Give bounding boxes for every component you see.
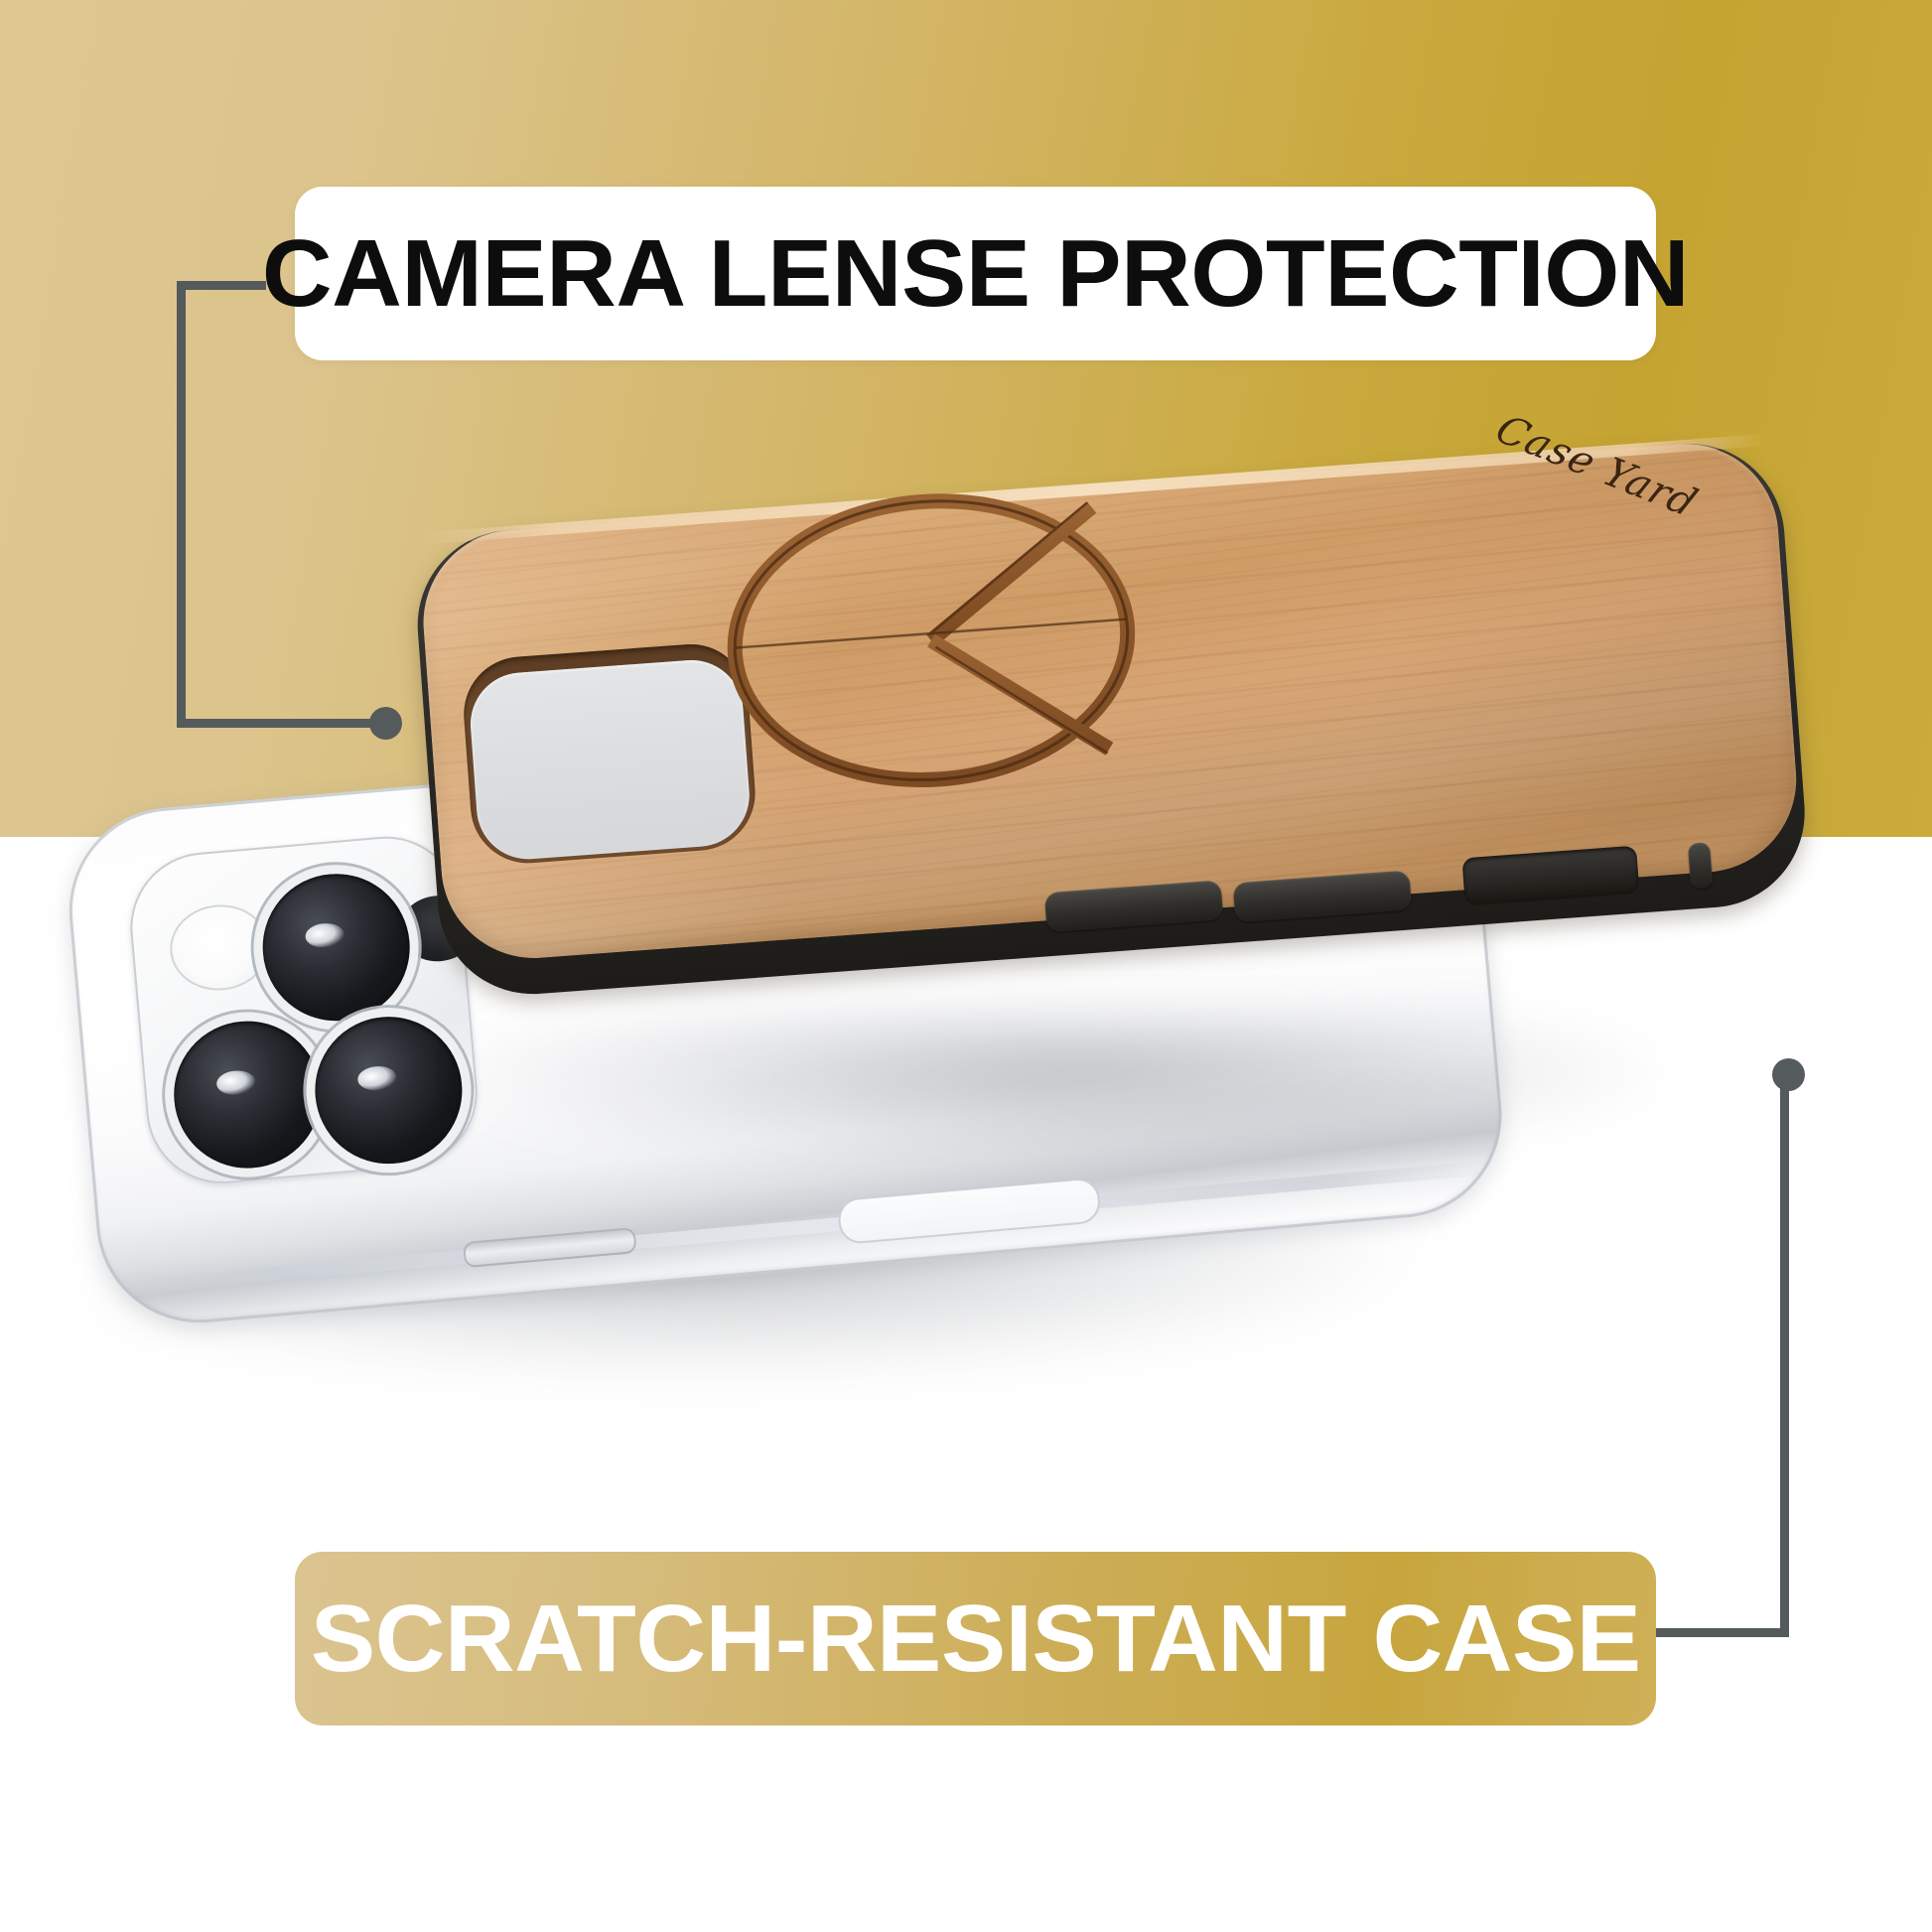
power-button	[1688, 842, 1713, 889]
callout-banner-top-label: CAMERA LENSE PROTECTION	[262, 226, 1689, 322]
product-infographic: Case Yard CAMERA LENSE PROTECTION SCRATC…	[0, 0, 1932, 1932]
callout-banner-bottom-label: SCRATCH-RESISTANT CASE	[311, 1591, 1641, 1687]
callout-connector-bottom-segment-vertical	[1780, 1080, 1789, 1636]
camera-cutout	[460, 640, 759, 867]
camera-cutout-inner	[467, 656, 753, 863]
callout-banner-top: CAMERA LENSE PROTECTION	[295, 187, 1656, 360]
phone-camera-module	[124, 830, 483, 1189]
callout-connector-bottom-segment-horizontal	[1655, 1628, 1789, 1637]
callout-banner-bottom: SCRATCH-RESISTANT CASE	[295, 1552, 1656, 1725]
peace-sign-logo	[708, 477, 1156, 805]
wooden-phone-case: Case Yard	[411, 437, 1813, 1023]
case-drop-shadow	[467, 1013, 1658, 1162]
